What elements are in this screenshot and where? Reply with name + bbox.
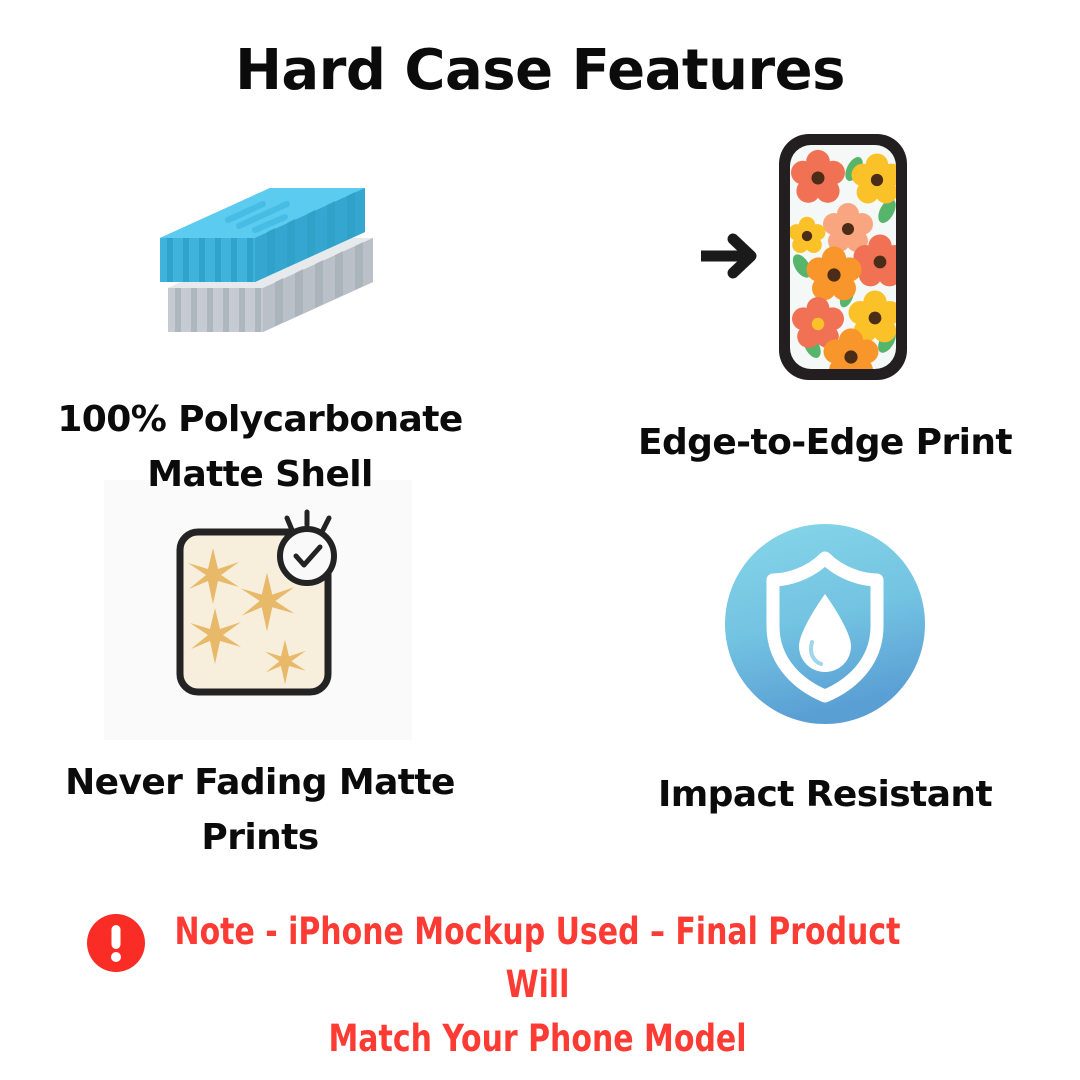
feature-never-fading: Never Fading Matte Prints bbox=[10, 478, 510, 865]
feature-edge-to-edge: Edge-to-Edge Print bbox=[575, 128, 1075, 471]
mockup-note-text: Note - iPhone Mockup Used – Final Produc… bbox=[164, 905, 911, 1065]
feature-infographic: Hard Case Features bbox=[0, 0, 1080, 1080]
exclamation-circle-icon bbox=[86, 913, 146, 973]
feature-caption: Edge-to-Edge Print bbox=[575, 416, 1075, 471]
feature-caption: Never Fading Matte Prints bbox=[10, 756, 510, 865]
page-title: Hard Case Features bbox=[0, 38, 1080, 103]
feature-polycarbonate: 100% Polycarbonate Matte Shell bbox=[10, 150, 510, 502]
shield-droplet-icon bbox=[575, 508, 1075, 740]
feature-caption: Impact Resistant bbox=[575, 768, 1075, 823]
layered-slabs-icon bbox=[10, 150, 510, 375]
sparkle-panel-check-icon bbox=[10, 478, 510, 740]
phone-case-floral-icon bbox=[575, 128, 1075, 386]
feature-impact-resistant: Impact Resistant bbox=[575, 508, 1075, 823]
mockup-note: Note - iPhone Mockup Used – Final Produc… bbox=[0, 905, 1080, 1065]
arrow-right-icon bbox=[701, 239, 751, 273]
